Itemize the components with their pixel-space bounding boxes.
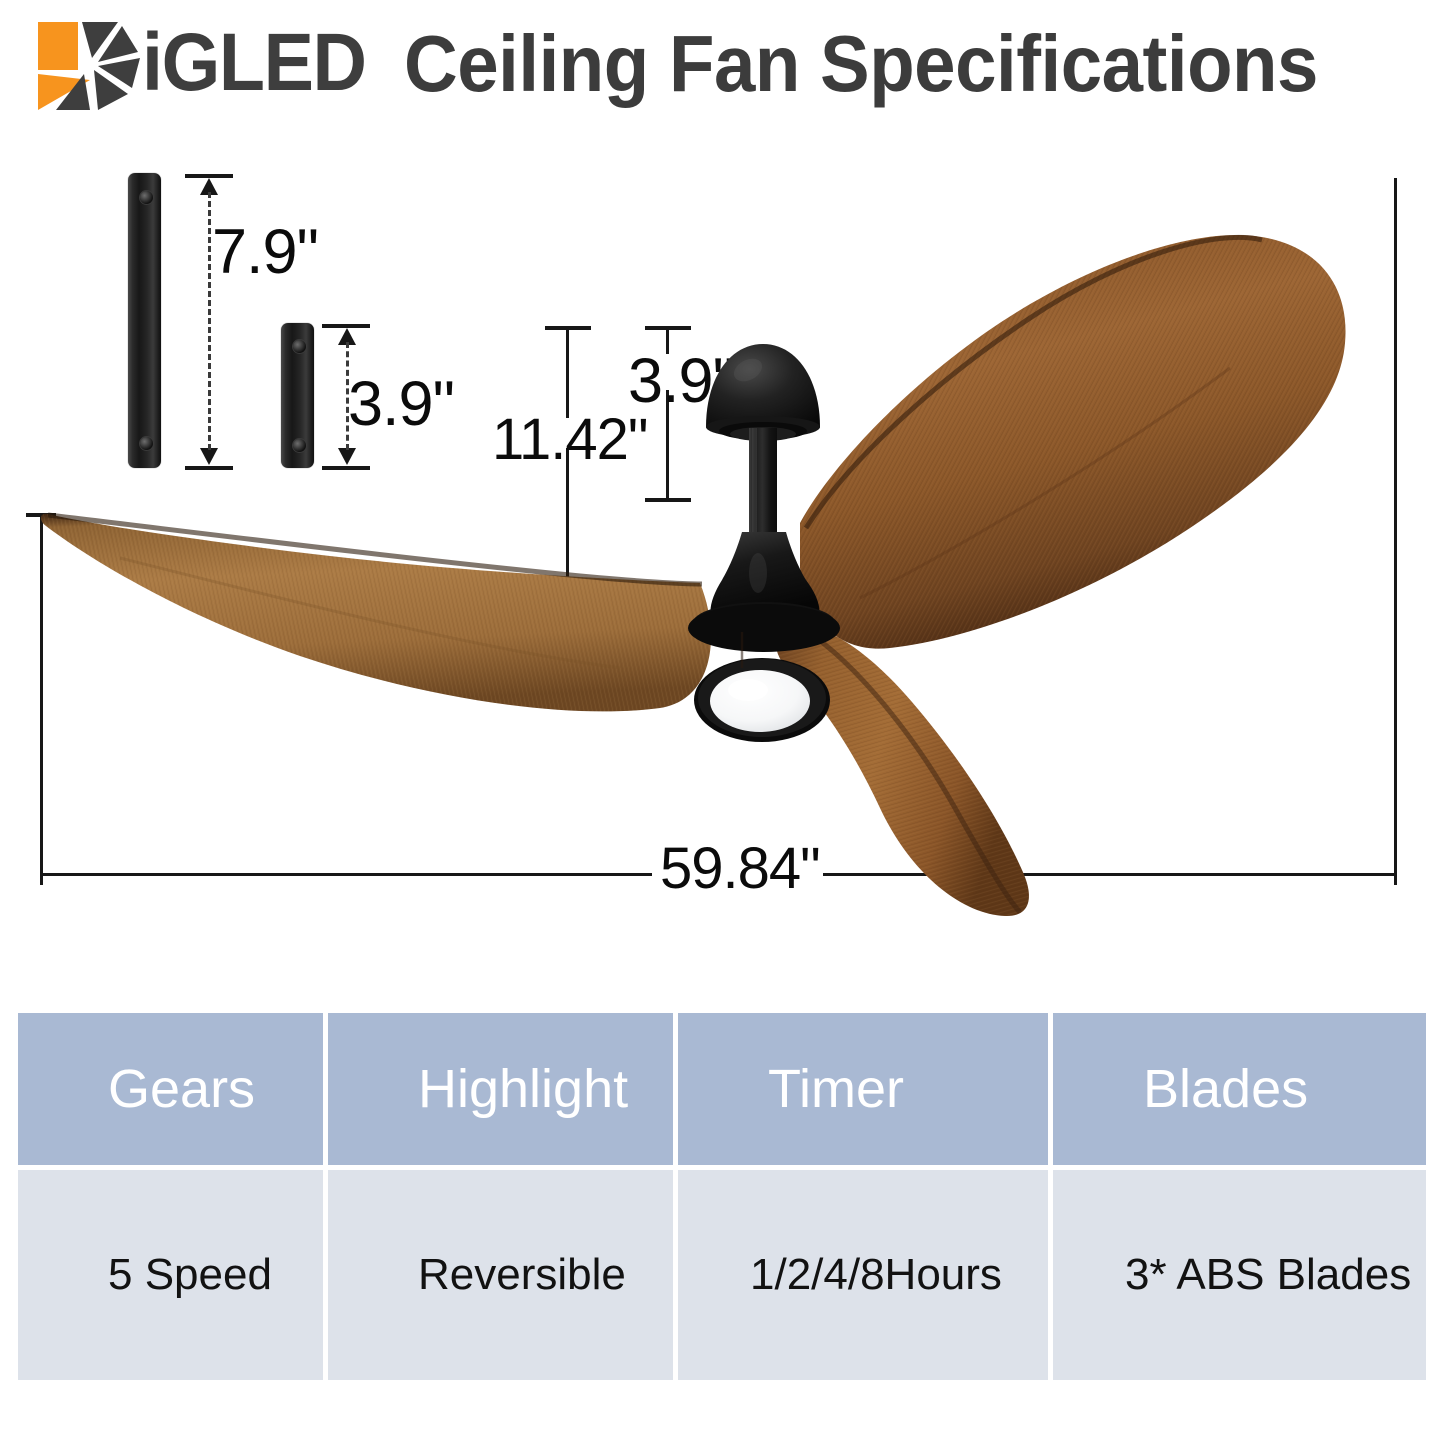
cell-highlight-value: Reversible — [328, 1170, 678, 1380]
fan-blade-upper-right — [800, 235, 1346, 649]
brand-wordmark: iGLED — [142, 17, 366, 109]
page-header: iGLED Ceiling Fan Specifications — [0, 0, 1445, 128]
fan-blade-left — [41, 514, 711, 712]
ceiling-canopy — [706, 344, 820, 441]
column-header-gears: Gears — [18, 1013, 328, 1170]
ceiling-fan-illustration — [0, 128, 1445, 998]
table-header-row: Gears Highlight Timer Blades — [18, 1013, 1426, 1170]
specifications-table: Gears Highlight Timer Blades 5 Speed Rev… — [18, 1013, 1426, 1380]
led-light-kit — [694, 658, 830, 742]
fan-downrod — [749, 428, 777, 536]
cell-timer-value: 1/2/4/8Hours — [678, 1170, 1053, 1380]
column-header-timer: Timer — [678, 1013, 1053, 1170]
column-header-highlight: Highlight — [328, 1013, 678, 1170]
cell-gears-value: 5 Speed — [18, 1170, 328, 1380]
cell-blades-value: 3* ABS Blades — [1053, 1170, 1426, 1380]
column-header-blades: Blades — [1053, 1013, 1426, 1170]
ceiling-fan-dimension-diagram: 7.9" 3.9" 11.42" 3.9" 59.84" — [0, 128, 1445, 998]
fan-blade-lower — [776, 626, 1029, 916]
aperture-logo-icon — [32, 18, 144, 110]
table-row: 5 Speed Reversible 1/2/4/8Hours 3* ABS B… — [18, 1170, 1426, 1380]
page-title: Ceiling Fan Specifications — [404, 16, 1318, 112]
